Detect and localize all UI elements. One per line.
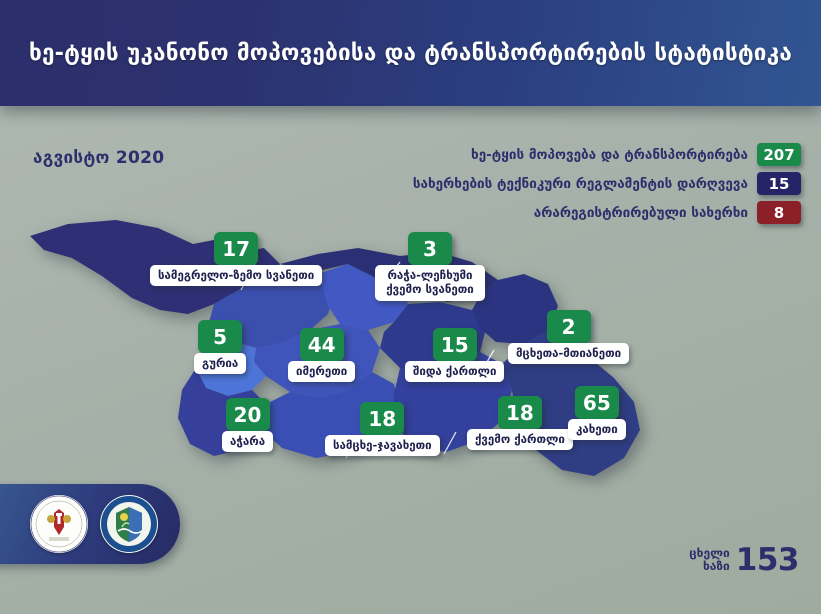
map-marker-imereti[interactable]: 44 იმერეთი: [288, 328, 355, 382]
marker-name: კახეთი: [568, 419, 626, 440]
legend-badge-sawmill-regulation: 15: [757, 172, 801, 195]
marker-count: 20: [226, 398, 270, 431]
legend-label: ხე-ტყის მოპოვება და ტრანსპორტირება: [471, 147, 748, 163]
marker-count: 65: [575, 386, 619, 419]
marker-name: სამეგრელო-ზემო სვანეთი: [150, 265, 322, 286]
map-marker-racha[interactable]: 3 რაჭა-ლეჩხუმი ქვემო სვანეთი: [375, 232, 485, 301]
hotline-label-line1: ცხელი: [689, 547, 730, 560]
legend-label: სახერხების ტექნიკური რეგლამენტის დარღვევ…: [413, 176, 748, 192]
hotline-label-line2: ხაზი: [689, 560, 730, 573]
ministry-emblem: [30, 495, 88, 553]
date-label: აგვისტო 2020: [33, 148, 164, 168]
map-marker-samtskhe[interactable]: 18 სამცხე-ჯავახეთი: [325, 402, 440, 456]
legend-row: სახერხების ტექნიკური რეგლამენტის დარღვევ…: [413, 172, 801, 195]
marker-name: აჭარა: [222, 431, 273, 452]
map-marker-samegrelo[interactable]: 17 სამეგრელო-ზემო სვანეთი: [150, 232, 322, 286]
marker-name: გურია: [194, 353, 246, 374]
legend-row: ხე-ტყის მოპოვება და ტრანსპორტირება 207: [471, 143, 801, 166]
marker-count: 17: [214, 232, 258, 265]
marker-count: 44: [300, 328, 344, 361]
legend: ხე-ტყის მოპოვება და ტრანსპორტირება 207 ს…: [413, 143, 801, 224]
marker-count: 5: [198, 320, 242, 353]
marker-name: იმერეთი: [288, 361, 355, 382]
marker-name: რაჭა-ლეჩხუმი ქვემო სვანეთი: [375, 265, 485, 301]
map-marker-guria[interactable]: 5 გურია: [194, 320, 246, 374]
marker-name: ქვემო ქართლი: [467, 429, 573, 450]
marker-count: 18: [360, 402, 404, 435]
hotline-label: ცხელი ხაზი: [689, 547, 730, 574]
header-banner: ხე-ტყის უკანონო მოპოვებისა და ტრანსპორტი…: [0, 0, 821, 106]
legend-badge-unregistered-sawmill: 8: [757, 201, 801, 224]
infographic-page: ხე-ტყის უკანონო მოპოვებისა და ტრანსპორტი…: [0, 0, 821, 614]
hotline: ცხელი ხაზი 153: [689, 542, 799, 578]
map-marker-kvemo-kartli[interactable]: 18 ქვემო ქართლი: [467, 396, 573, 450]
map-marker-kakheti[interactable]: 65 კახეთი: [568, 386, 626, 440]
marker-count: 15: [433, 328, 477, 361]
agency-emblem: [100, 495, 158, 553]
hotline-number: 153: [736, 542, 799, 578]
map-marker-mtskheta[interactable]: 2 მცხეთა-მთიანეთი: [508, 310, 629, 364]
logo-panel: [0, 484, 180, 564]
map-marker-shida-kartli[interactable]: 15 შიდა ქართლი: [405, 328, 504, 382]
marker-count: 18: [498, 396, 542, 429]
marker-count: 2: [547, 310, 591, 343]
marker-name: სამცხე-ჯავახეთი: [325, 435, 440, 456]
marker-name: შიდა ქართლი: [405, 361, 504, 382]
marker-name: მცხეთა-მთიანეთი: [508, 343, 629, 364]
map-marker-adjara[interactable]: 20 აჭარა: [222, 398, 273, 452]
legend-badge-violations: 207: [757, 143, 801, 166]
marker-count: 3: [408, 232, 452, 265]
page-title: ხე-ტყის უკანონო მოპოვებისა და ტრანსპორტი…: [29, 40, 792, 66]
